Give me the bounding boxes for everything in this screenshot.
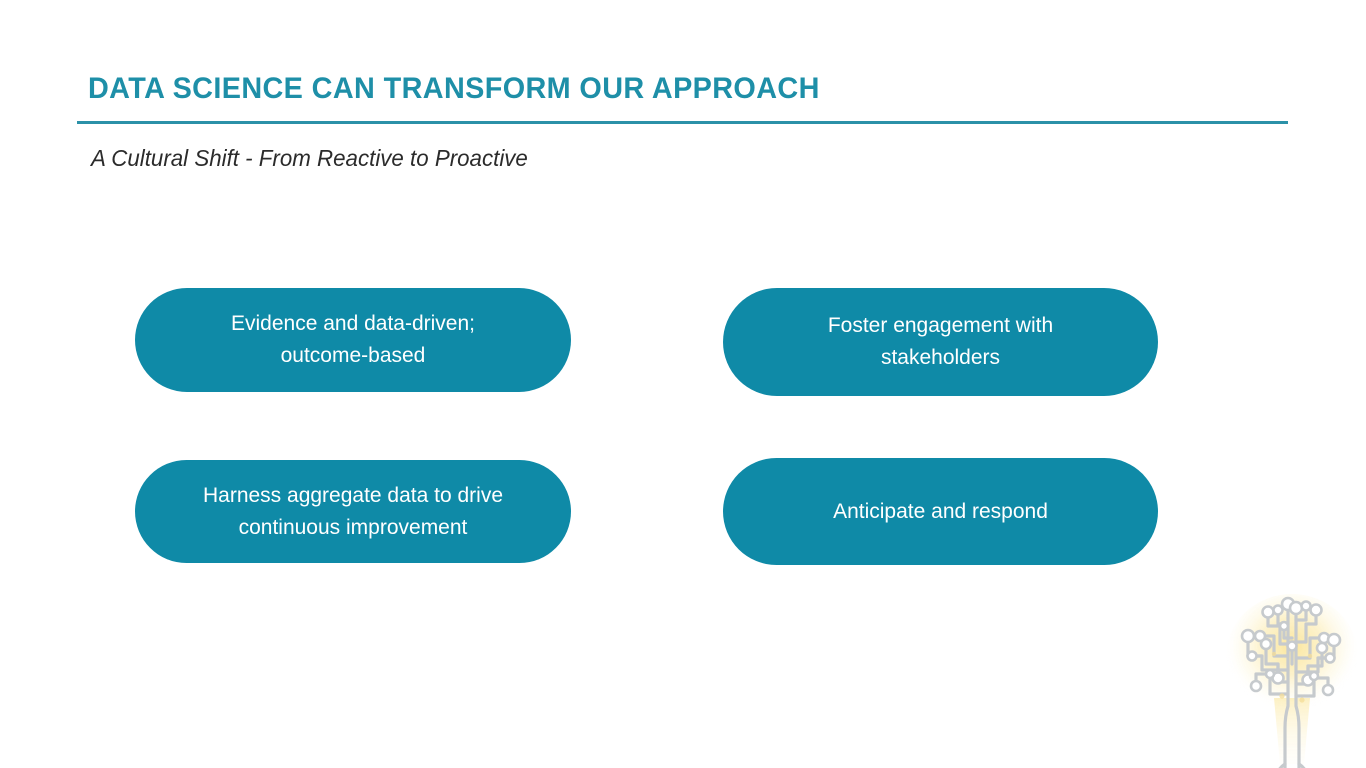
pill-shape-anticipate-respond: Anticipate and respond xyxy=(723,458,1158,565)
slide-canvas: DATA SCIENCE CAN TRANSFORM OUR APPROACH … xyxy=(0,0,1366,768)
title-divider xyxy=(77,121,1288,124)
pill-shape-harness-aggregate-data: Harness aggregate data to drive continuo… xyxy=(135,460,571,563)
pill-label: Foster engagement with stakeholders xyxy=(828,310,1053,374)
circuit-tree-icon xyxy=(1222,578,1362,768)
pill-label: Harness aggregate data to drive continuo… xyxy=(203,480,503,544)
pill-shape-foster-engagement: Foster engagement with stakeholders xyxy=(723,288,1158,396)
pill-label: Anticipate and respond xyxy=(833,496,1048,528)
page-title: DATA SCIENCE CAN TRANSFORM OUR APPROACH xyxy=(88,72,820,106)
pill-label: Evidence and data-driven; outcome-based xyxy=(231,308,475,372)
pill-shape-evidence-data-driven: Evidence and data-driven; outcome-based xyxy=(135,288,571,392)
page-subtitle: A Cultural Shift - From Reactive to Proa… xyxy=(91,145,528,172)
